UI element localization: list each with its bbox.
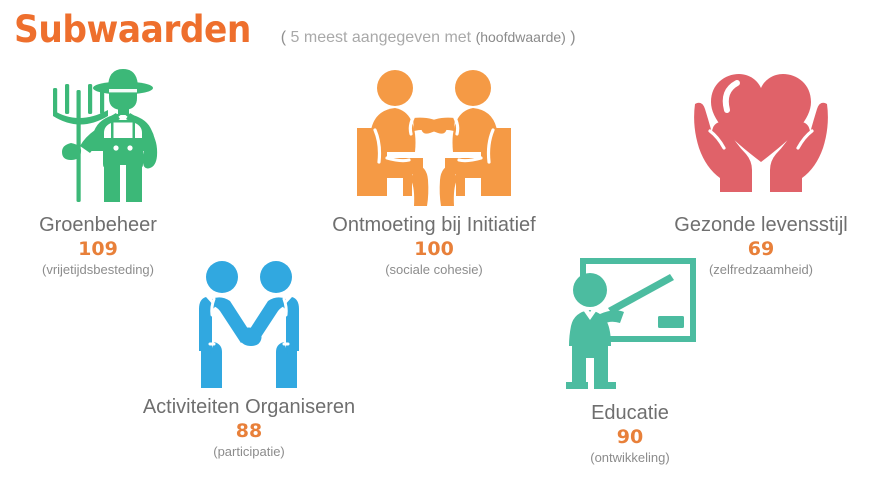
subtitle-hoofdwaarde-text: (hoofdwaarde) xyxy=(476,29,566,45)
teacher-whiteboard-icon xyxy=(550,248,710,398)
handshake-two-people-icon xyxy=(184,252,314,392)
card-gezonde: Gezonde levensstijl 69 (zelfredzaamheid) xyxy=(648,60,874,277)
heart-in-hands-icon xyxy=(679,60,844,210)
card-value: 90 xyxy=(498,426,762,449)
farmer-pitchfork-icon xyxy=(23,60,173,210)
two-people-seated-meeting-icon xyxy=(339,60,529,210)
card-label: Groenbeheer xyxy=(0,214,196,237)
card-value: 88 xyxy=(104,420,394,443)
header: Subwaarden ( 5 meest aangegeven met (hoo… xyxy=(14,8,576,51)
page-title: Subwaarden xyxy=(14,8,251,51)
card-icon-wrapper xyxy=(104,252,394,392)
card-activiteiten: Activiteiten Organiseren 88 (participati… xyxy=(104,252,394,459)
card-caption: (ontwikkeling) xyxy=(498,450,762,466)
card-label: Ontmoeting bij Initiatief xyxy=(288,214,580,237)
subtitle-paren-close: ) xyxy=(570,29,575,46)
infographic-root: Subwaarden ( 5 meest aangegeven met (hoo… xyxy=(0,0,874,478)
card-label: Gezonde levensstijl xyxy=(648,214,874,237)
card-ontmoeting: Ontmoeting bij Initiatief 100 (sociale c… xyxy=(288,60,580,277)
card-educatie: Educatie 90 (ontwikkeling) xyxy=(498,248,762,465)
card-caption: (participatie) xyxy=(104,444,394,460)
card-icon-wrapper xyxy=(0,60,196,210)
header-subtitle: ( 5 meest aangegeven met (hoofdwaarde) ) xyxy=(281,29,576,47)
card-icon-wrapper xyxy=(648,60,874,210)
card-label: Activiteiten Organiseren xyxy=(104,396,394,419)
subtitle-paren-open: ( xyxy=(281,29,286,46)
subtitle-main-text: 5 meest aangegeven met xyxy=(291,29,472,46)
card-icon-wrapper xyxy=(498,248,762,398)
card-groenbeheer: Groenbeheer 109 (vrijetijdsbesteding) xyxy=(0,60,196,277)
card-icon-wrapper xyxy=(288,60,580,210)
card-label: Educatie xyxy=(498,402,762,425)
